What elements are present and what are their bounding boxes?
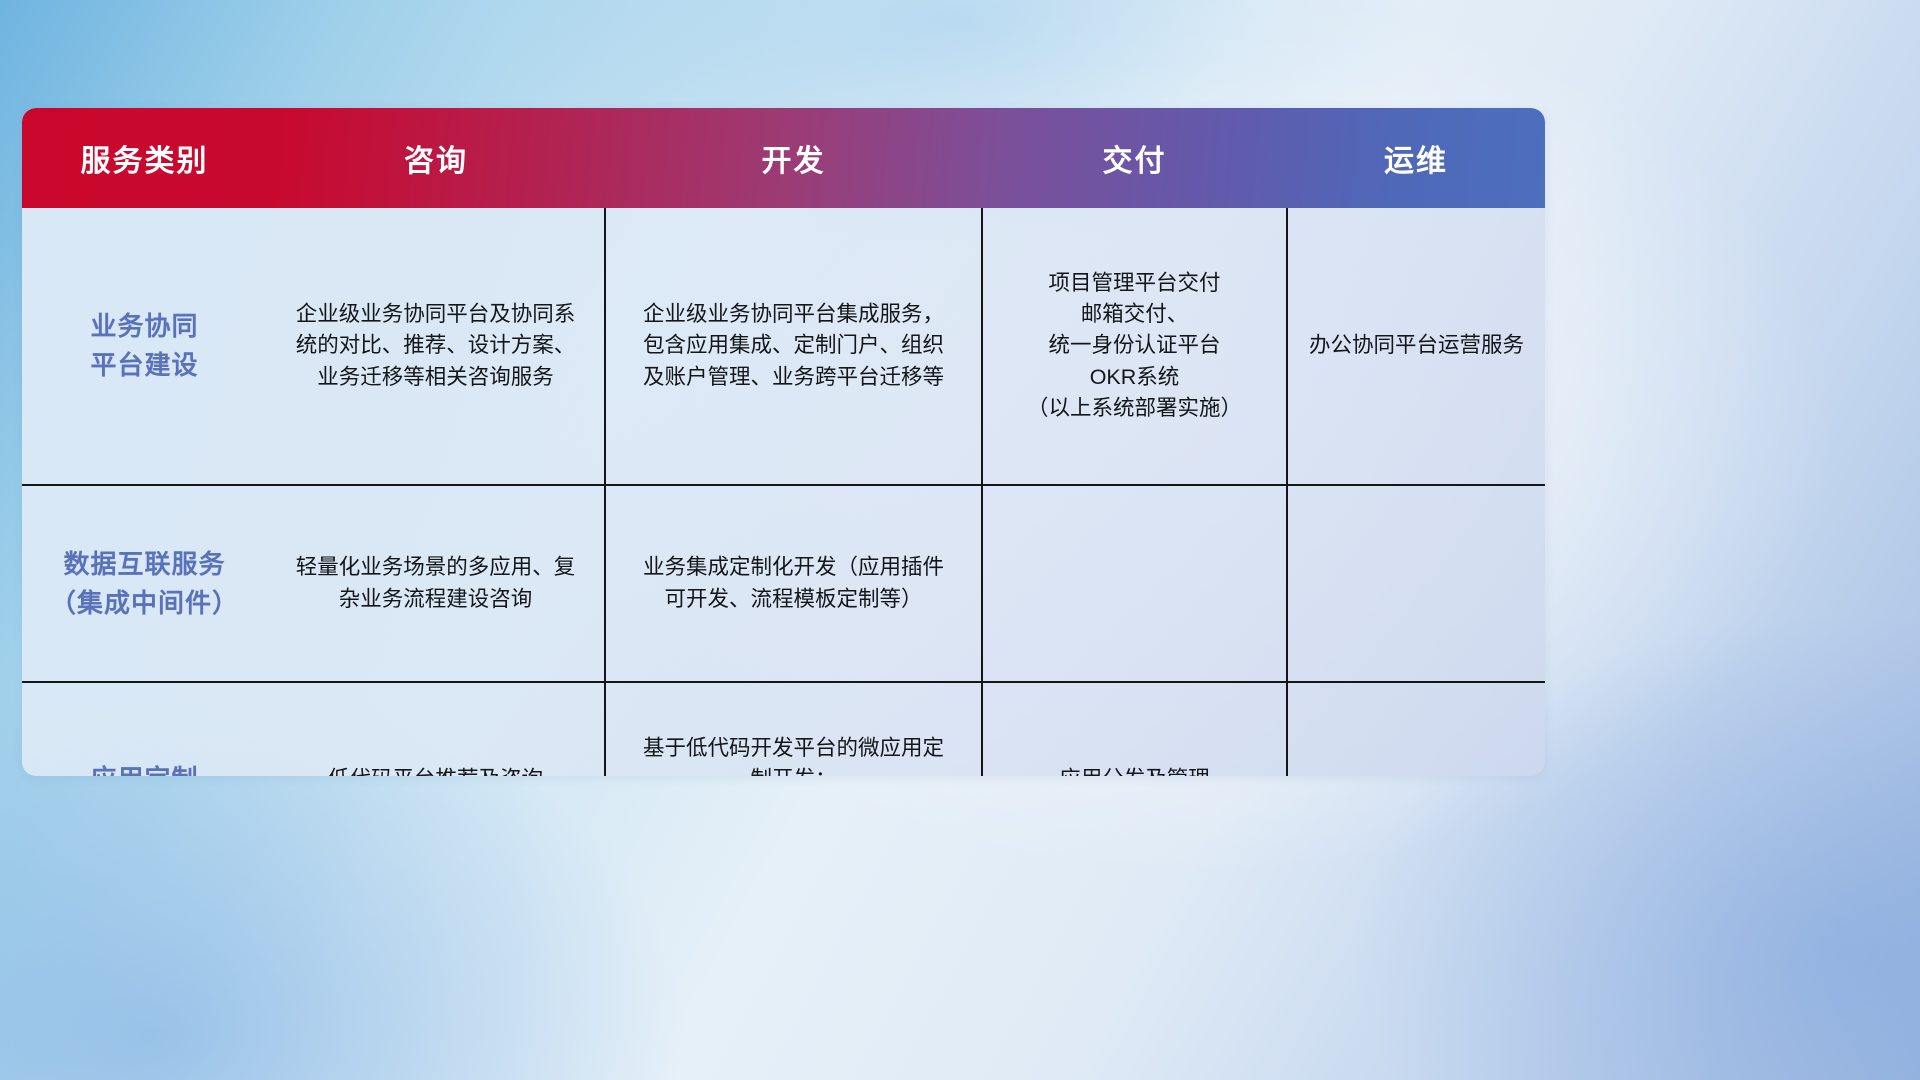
cell-r1-development: 企业级业务协同平台集成服务， 包含应用集成、定制门户、组织 及账户管理、业务跨平… <box>605 208 982 485</box>
cell-r2-consulting: 轻量化业务场景的多应用、复 杂业务流程建设咨询 <box>267 485 605 682</box>
column-header-development: 开发 <box>605 108 982 208</box>
service-matrix-panel: 服务类别 咨询 开发 交付 运维 业务协同 平台建设 企业级业务协同平台及协同系… <box>22 108 1545 776</box>
cell-r3-development: 基于低代码开发平台的微应用定 制开发； 基于通过语言的微应用定制开发 <box>605 682 982 776</box>
cell-r1-operations: 办公协同平台运营服务 <box>1287 208 1545 485</box>
cell-r2-development: 业务集成定制化开发（应用插件 可开发、流程模板定制等） <box>605 485 982 682</box>
row-label-data-interconnect: 数据互联服务 （集成中间件） <box>22 485 267 682</box>
table-row: 应用定制 低代码平台推荐及咨询 基于低代码开发平台的微应用定 制开发； 基于通过… <box>22 682 1545 776</box>
cell-r1-delivery: 项目管理平台交付 邮箱交付、 统一身份认证平台 OKR系统 （以上系统部署实施） <box>982 208 1287 485</box>
cell-r1-consulting: 企业级业务协同平台及协同系 统的对比、推荐、设计方案、 业务迁移等相关咨询服务 <box>267 208 605 485</box>
service-matrix-table: 服务类别 咨询 开发 交付 运维 业务协同 平台建设 企业级业务协同平台及协同系… <box>22 108 1545 776</box>
column-header-service-category: 服务类别 <box>22 108 267 208</box>
table-body: 业务协同 平台建设 企业级业务协同平台及协同系 统的对比、推荐、设计方案、 业务… <box>22 208 1545 776</box>
table-row: 数据互联服务 （集成中间件） 轻量化业务场景的多应用、复 杂业务流程建设咨询 业… <box>22 485 1545 682</box>
row-label-business-collaboration: 业务协同 平台建设 <box>22 208 267 485</box>
column-header-operations: 运维 <box>1287 108 1545 208</box>
cell-r2-delivery <box>982 485 1287 682</box>
table-row: 业务协同 平台建设 企业级业务协同平台及协同系 统的对比、推荐、设计方案、 业务… <box>22 208 1545 485</box>
cell-r3-delivery: 应用分发及管理 <box>982 682 1287 776</box>
column-header-consulting: 咨询 <box>267 108 605 208</box>
row-label-app-customization: 应用定制 <box>22 682 267 776</box>
column-header-delivery: 交付 <box>982 108 1287 208</box>
header-row: 服务类别 咨询 开发 交付 运维 <box>22 108 1545 208</box>
table-header: 服务类别 咨询 开发 交付 运维 <box>22 108 1545 208</box>
cell-r3-consulting: 低代码平台推荐及咨询 <box>267 682 605 776</box>
cell-r3-operations <box>1287 682 1545 776</box>
cell-r2-operations <box>1287 485 1545 682</box>
